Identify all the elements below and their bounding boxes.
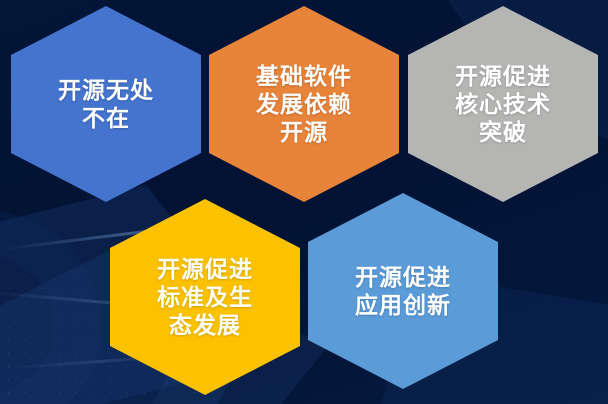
hexagon-label-standards-ecosystem: 开源促进 标准及生 态发展 bbox=[157, 255, 253, 339]
hexagon-label-open-source-everywhere: 开源无处 不在 bbox=[58, 76, 154, 132]
hexagon-label-core-technology: 开源促进 核心技术 突破 bbox=[455, 62, 551, 146]
infographic-canvas: 开源无处 不在 基础软件 发展依赖 开源 开源促进 核心技术 突破 开源促进 标… bbox=[0, 0, 608, 404]
hexagon-label-basic-software: 基础软件 发展依赖 开源 bbox=[256, 62, 352, 146]
hexagon-label-application-innovation: 开源促进 应用创新 bbox=[355, 263, 451, 319]
